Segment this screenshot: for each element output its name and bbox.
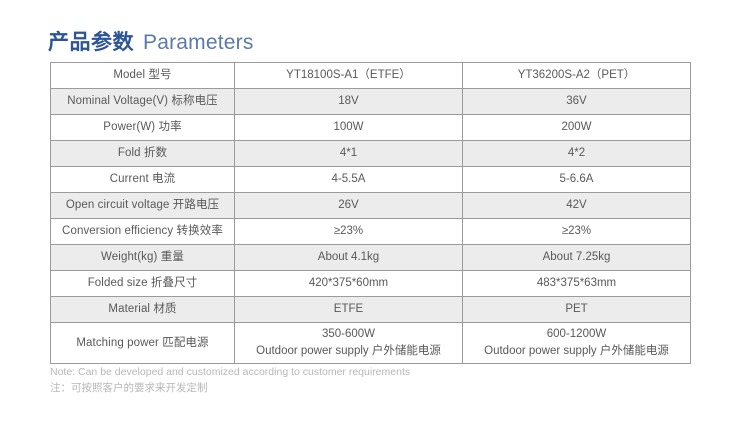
table-row: Current 电流 4-5.5A 5-6.6A [51,167,691,193]
row-label: Conversion efficiency 转换效率 [51,219,235,245]
row-value-model-b: 36V [463,89,691,115]
row-value-model-b: ≥23% [463,219,691,245]
row-value-model-b: 200W [463,115,691,141]
parameters-page: 产品参数 Parameters Model 型号 YT18100S-A1（ETF… [0,0,739,423]
row-value-model-b: 483*375*63mm [463,271,691,297]
row-value-model-b: PET [463,297,691,323]
row-value-model-a: 420*375*60mm [235,271,463,297]
table-row: Power(W) 功率 100W 200W [51,115,691,141]
footer-note-chinese: 注：可按照客户的要求来开发定制 [50,381,410,397]
specifications-table-container: Model 型号 YT18100S-A1（ETFE） YT36200S-A2（P… [50,62,690,364]
table-row: Fold 折数 4*1 4*2 [51,141,691,167]
table-row: Matching power 匹配电源 350-600W Outdoor pow… [51,323,691,364]
row-value-model-a: 100W [235,115,463,141]
row-value-model-b: 4*2 [463,141,691,167]
row-value-model-b: 5-6.6A [463,167,691,193]
matching-power-a-desc: Outdoor power supply 户外储能电源 [239,343,458,360]
table-row: Open circuit voltage 开路电压 26V 42V [51,193,691,219]
row-value-model-a: About 4.1kg [235,245,463,271]
table-row: Conversion efficiency 转换效率 ≥23% ≥23% [51,219,691,245]
row-label: Material 材质 [51,297,235,323]
row-value-model-a: ETFE [235,297,463,323]
row-value-model-b: About 7.25kg [463,245,691,271]
matching-power-a-range: 350-600W [239,326,458,343]
row-value-model-a: 350-600W Outdoor power supply 户外储能电源 [235,323,463,364]
specifications-table: Model 型号 YT18100S-A1（ETFE） YT36200S-A2（P… [50,62,691,364]
row-label: Open circuit voltage 开路电压 [51,193,235,219]
matching-power-b-range: 600-1200W [467,326,686,343]
page-title-english: Parameters [143,31,254,55]
row-label: Nominal Voltage(V) 标称电压 [51,89,235,115]
row-value-model-b: 600-1200W Outdoor power supply 户外储能电源 [463,323,691,364]
table-row: Model 型号 YT18100S-A1（ETFE） YT36200S-A2（P… [51,63,691,89]
table-row: Material 材质 ETFE PET [51,297,691,323]
row-value-model-b: YT36200S-A2（PET） [463,63,691,89]
row-value-model-b: 42V [463,193,691,219]
matching-power-b-desc: Outdoor power supply 户外储能电源 [467,343,686,360]
table-row: Weight(kg) 重量 About 4.1kg About 7.25kg [51,245,691,271]
row-label: Weight(kg) 重量 [51,245,235,271]
row-label: Folded size 折叠尺寸 [51,271,235,297]
footer-note-english: Note: Can be developed and customized ac… [50,365,410,381]
row-label: Matching power 匹配电源 [51,323,235,364]
row-value-model-a: 18V [235,89,463,115]
row-label: Fold 折数 [51,141,235,167]
page-title-chinese: 产品参数 [48,26,134,56]
row-label: Current 电流 [51,167,235,193]
row-value-model-a: 26V [235,193,463,219]
row-value-model-a: YT18100S-A1（ETFE） [235,63,463,89]
footer-note: Note: Can be developed and customized ac… [50,365,410,397]
row-label: Power(W) 功率 [51,115,235,141]
page-title: 产品参数 Parameters [48,26,254,56]
row-value-model-a: 4*1 [235,141,463,167]
table-row: Folded size 折叠尺寸 420*375*60mm 483*375*63… [51,271,691,297]
row-value-model-a: 4-5.5A [235,167,463,193]
row-label: Model 型号 [51,63,235,89]
row-value-model-a: ≥23% [235,219,463,245]
table-row: Nominal Voltage(V) 标称电压 18V 36V [51,89,691,115]
